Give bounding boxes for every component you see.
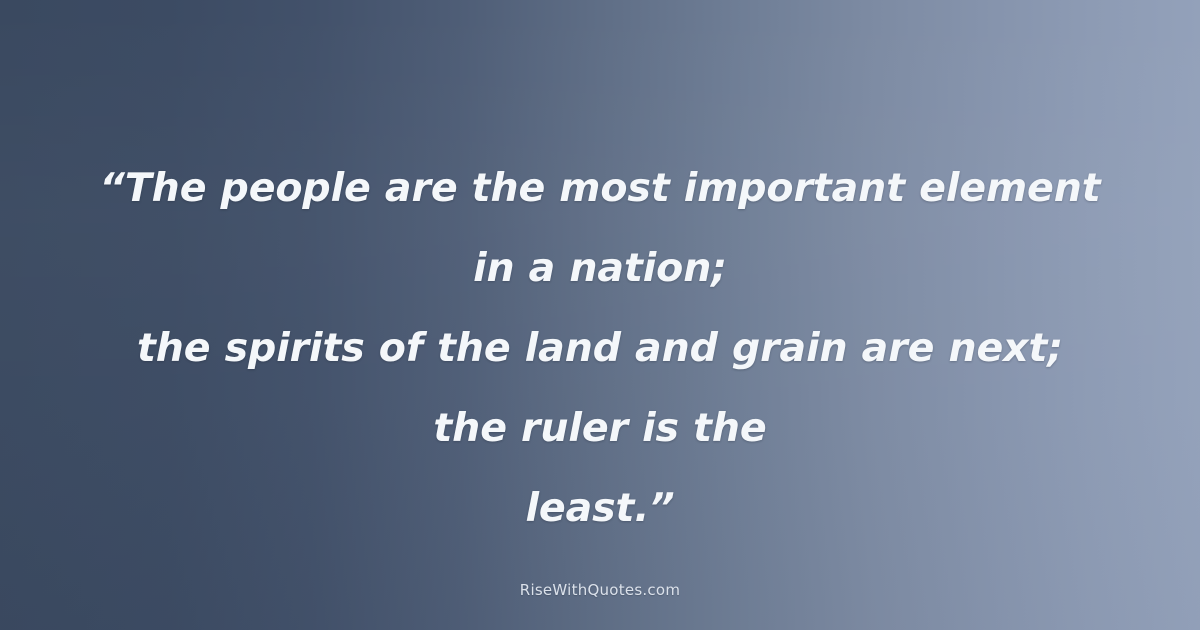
quote-text: “The people are the most important eleme… xyxy=(96,148,1104,548)
attribution: RiseWithQuotes.com xyxy=(0,581,1200,600)
quote-card: “The people are the most important eleme… xyxy=(0,0,1200,630)
quote-block: “The people are the most important eleme… xyxy=(0,148,1200,548)
attribution-label: RiseWithQuotes.com xyxy=(520,581,680,599)
